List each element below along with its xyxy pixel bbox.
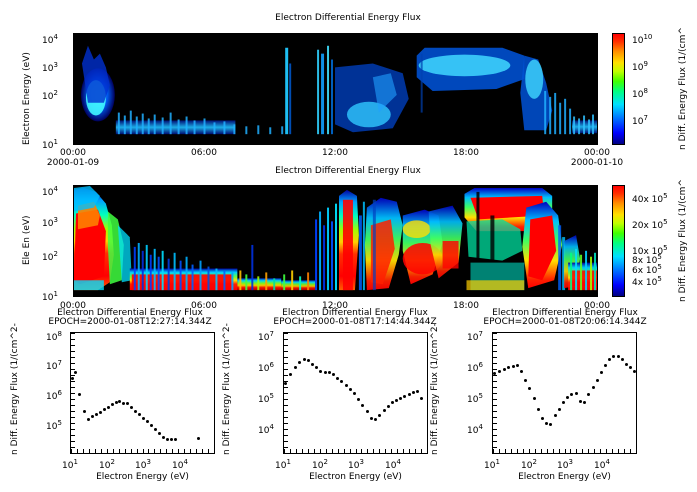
axis-tick bbox=[71, 375, 75, 376]
axis-tick bbox=[296, 449, 297, 453]
panel1-colorbar-label: n Diff. Energy Flux (1/(cm^ bbox=[678, 27, 688, 150]
axis-tick bbox=[71, 363, 75, 364]
panel1-cbar-tick-0: 1010 bbox=[632, 33, 652, 46]
data-point bbox=[520, 370, 523, 373]
axis-tick bbox=[553, 449, 554, 453]
axis-tick bbox=[618, 449, 619, 453]
axis-tick bbox=[77, 449, 78, 453]
axis-tick bbox=[326, 449, 327, 453]
panel2-colorbar bbox=[612, 185, 625, 297]
data-point bbox=[99, 411, 102, 414]
axis-tick bbox=[284, 405, 288, 406]
spectrum-1-xtick-2: 103 bbox=[135, 458, 151, 471]
axis-tick bbox=[493, 435, 497, 436]
axis-tick bbox=[284, 453, 288, 454]
axis-tick bbox=[71, 357, 75, 358]
axis-tick bbox=[535, 449, 536, 453]
data-point bbox=[115, 401, 118, 404]
data-point bbox=[633, 370, 636, 373]
axis-tick bbox=[361, 449, 362, 453]
spectrum-3-xtick-2: 103 bbox=[557, 458, 573, 471]
axis-tick bbox=[493, 423, 497, 424]
spectrum-2-ytick-3: 104 bbox=[258, 423, 274, 436]
panel2-ylabel: Ele En (eV) bbox=[22, 215, 32, 265]
axis-tick bbox=[284, 423, 288, 424]
panel1-title: Electron Differential Energy Flux bbox=[198, 13, 498, 23]
spectrum-2-ytick-2: 105 bbox=[258, 392, 274, 405]
axis-tick bbox=[160, 449, 161, 453]
panel1-ytick-0: 104 bbox=[42, 33, 58, 46]
axis-tick bbox=[154, 449, 155, 453]
data-point bbox=[74, 371, 77, 374]
axis-tick bbox=[427, 449, 428, 453]
axis-tick bbox=[71, 345, 75, 346]
axis-tick bbox=[493, 351, 497, 352]
data-point bbox=[319, 370, 322, 373]
panel1-xtick-0: 00:00 bbox=[60, 148, 86, 158]
axis-tick bbox=[493, 405, 497, 406]
spectrum-3-xtick-3: 104 bbox=[594, 458, 610, 471]
axis-tick bbox=[391, 449, 392, 453]
axis-tick bbox=[594, 449, 595, 453]
axis-tick bbox=[529, 449, 530, 453]
data-point bbox=[284, 382, 287, 385]
data-point bbox=[420, 397, 423, 400]
data-point bbox=[608, 358, 611, 361]
data-point bbox=[612, 355, 615, 358]
spectrum-2-plot-area bbox=[283, 332, 428, 454]
data-point bbox=[403, 395, 406, 398]
axis-tick bbox=[284, 393, 288, 394]
data-point bbox=[311, 363, 314, 366]
data-point bbox=[146, 420, 149, 423]
axis-tick bbox=[184, 449, 185, 453]
axis-tick bbox=[493, 339, 497, 340]
spectrum-2-xlabel: Electron Energy (eV) bbox=[273, 472, 438, 482]
axis-tick bbox=[493, 381, 497, 382]
panel1-cbar-tick-2: 108 bbox=[632, 87, 648, 100]
data-point bbox=[583, 401, 586, 404]
axis-tick bbox=[71, 405, 75, 406]
axis-tick bbox=[284, 381, 288, 382]
axis-tick bbox=[95, 449, 96, 453]
axis-tick bbox=[71, 369, 75, 370]
data-point bbox=[154, 428, 157, 431]
axis-tick bbox=[565, 449, 566, 453]
axis-tick bbox=[606, 449, 607, 453]
axis-tick bbox=[284, 435, 288, 436]
data-point bbox=[412, 391, 415, 394]
data-point bbox=[303, 358, 306, 361]
data-point bbox=[111, 403, 114, 406]
panel1-xtick-3: 18:00 bbox=[453, 148, 479, 158]
axis-tick bbox=[356, 449, 357, 453]
axis-tick bbox=[397, 449, 398, 453]
axis-tick bbox=[582, 449, 583, 453]
data-point bbox=[562, 401, 565, 404]
data-point bbox=[507, 366, 510, 369]
data-point bbox=[315, 366, 318, 369]
data-point bbox=[617, 355, 620, 358]
data-point bbox=[516, 364, 519, 367]
spectrum-2-xtick-0: 101 bbox=[275, 458, 291, 471]
axis-tick bbox=[284, 447, 288, 448]
data-point bbox=[416, 390, 419, 393]
axis-tick bbox=[71, 441, 75, 442]
data-point bbox=[383, 409, 386, 412]
data-point bbox=[78, 393, 81, 396]
panel2-colorbar-label: n Diff. Energy Flux (1/(cm^ bbox=[678, 179, 688, 302]
axis-tick bbox=[284, 375, 288, 376]
data-point bbox=[340, 380, 343, 383]
axis-tick bbox=[143, 449, 144, 453]
axis-tick bbox=[172, 449, 173, 453]
axis-tick bbox=[71, 435, 75, 436]
data-point bbox=[391, 401, 394, 404]
axis-tick bbox=[284, 369, 288, 370]
data-point bbox=[512, 365, 515, 368]
data-point bbox=[122, 402, 125, 405]
axis-tick bbox=[71, 351, 75, 352]
data-point bbox=[95, 413, 98, 416]
axis-tick bbox=[320, 449, 321, 453]
axis-tick bbox=[284, 333, 288, 334]
data-point bbox=[174, 438, 177, 441]
axis-tick bbox=[332, 449, 333, 453]
data-point bbox=[604, 364, 607, 367]
panel1-colorbar bbox=[612, 33, 625, 145]
data-point bbox=[324, 371, 327, 374]
axis-tick bbox=[493, 363, 497, 364]
spectrum-2-ylabel: n Diff. Energy Flux (1/(cm^2- bbox=[222, 323, 232, 455]
data-point bbox=[387, 405, 390, 408]
spectrum-3-ytick-2: 105 bbox=[467, 392, 483, 405]
axis-tick bbox=[493, 375, 497, 376]
axis-tick bbox=[284, 417, 288, 418]
panel1-cbar-tick-3: 107 bbox=[632, 114, 648, 127]
axis-tick bbox=[83, 449, 84, 453]
panel2-cbar-tick-5: 4x 105 bbox=[632, 275, 662, 288]
axis-tick bbox=[547, 449, 548, 453]
axis-tick bbox=[367, 449, 368, 453]
spectrum-2-xtick-3: 104 bbox=[385, 458, 401, 471]
data-point bbox=[138, 413, 141, 416]
spectrum-3-xtick-0: 101 bbox=[484, 458, 500, 471]
data-point bbox=[307, 359, 310, 362]
data-point bbox=[158, 432, 161, 435]
panel1-xdate-right: 2000-01-10 bbox=[571, 158, 623, 168]
axis-tick bbox=[71, 411, 75, 412]
data-point bbox=[126, 402, 129, 405]
axis-tick bbox=[290, 449, 291, 453]
data-point bbox=[545, 422, 548, 425]
data-point bbox=[370, 417, 373, 420]
axis-tick bbox=[415, 449, 416, 453]
axis-tick bbox=[523, 449, 524, 453]
axis-tick bbox=[284, 339, 288, 340]
axis-tick bbox=[284, 345, 288, 346]
axis-tick bbox=[493, 393, 497, 394]
data-point bbox=[353, 392, 356, 395]
axis-tick bbox=[379, 449, 380, 453]
axis-tick bbox=[493, 399, 497, 400]
data-point bbox=[166, 438, 169, 441]
axis-tick bbox=[493, 357, 497, 358]
axis-tick bbox=[493, 411, 497, 412]
panel1-ylabel: Electron Energy (eV) bbox=[22, 52, 32, 145]
data-point bbox=[197, 437, 200, 440]
axis-tick bbox=[284, 411, 288, 412]
axis-tick bbox=[178, 449, 179, 453]
data-point bbox=[395, 399, 398, 402]
axis-tick bbox=[600, 449, 601, 453]
data-point bbox=[83, 410, 86, 413]
data-point bbox=[349, 388, 352, 391]
axis-tick bbox=[137, 449, 138, 453]
axis-tick bbox=[284, 387, 288, 388]
data-point bbox=[399, 397, 402, 400]
panel2-title: Electron Differential Energy Flux bbox=[198, 166, 498, 176]
spectrum-1-ylabel: n Diff. Energy Flux (1/(cm^2- bbox=[10, 323, 20, 455]
axis-tick bbox=[338, 449, 339, 453]
data-point bbox=[361, 404, 364, 407]
axis-tick bbox=[71, 333, 75, 334]
data-point bbox=[345, 384, 348, 387]
axis-tick bbox=[284, 357, 288, 358]
spectrum-2-ytick-0: 107 bbox=[258, 330, 274, 343]
axis-tick bbox=[541, 449, 542, 453]
axis-tick bbox=[350, 449, 351, 453]
data-point bbox=[621, 358, 624, 361]
data-point bbox=[575, 392, 578, 395]
data-point bbox=[107, 406, 110, 409]
panel2-ytick-1: 103 bbox=[42, 216, 58, 229]
data-point bbox=[357, 398, 360, 401]
axis-tick bbox=[493, 345, 497, 346]
data-point bbox=[629, 366, 632, 369]
data-point bbox=[170, 438, 173, 441]
spectrum-1-subtitle: EPOCH=2000-01-08T12:27:14.344Z bbox=[20, 317, 240, 327]
data-point bbox=[142, 417, 145, 420]
axis-tick bbox=[71, 381, 75, 382]
axis-tick bbox=[493, 453, 497, 454]
axis-tick bbox=[505, 449, 506, 453]
data-point bbox=[162, 436, 165, 439]
data-point bbox=[118, 400, 121, 403]
data-point bbox=[587, 393, 590, 396]
data-point bbox=[600, 371, 603, 374]
data-point bbox=[87, 418, 90, 421]
data-point bbox=[103, 408, 106, 411]
data-point bbox=[541, 417, 544, 420]
axis-tick bbox=[493, 369, 497, 370]
spectrum-3-xtick-1: 102 bbox=[521, 458, 537, 471]
axis-tick bbox=[89, 449, 90, 453]
axis-tick bbox=[71, 447, 75, 448]
axis-tick bbox=[71, 399, 75, 400]
data-point bbox=[366, 410, 369, 413]
data-point bbox=[150, 424, 153, 427]
axis-tick bbox=[636, 449, 637, 453]
data-point bbox=[558, 408, 561, 411]
axis-tick bbox=[493, 417, 497, 418]
axis-tick bbox=[308, 449, 309, 453]
spectrum-1-ytick-3: 105 bbox=[46, 419, 62, 432]
axis-tick bbox=[517, 449, 518, 453]
panel2-ytick-3: 101 bbox=[42, 290, 58, 303]
data-point bbox=[537, 408, 540, 411]
axis-tick bbox=[570, 449, 571, 453]
axis-tick bbox=[202, 449, 203, 453]
axis-tick bbox=[624, 449, 625, 453]
axis-tick bbox=[284, 351, 288, 352]
spectrum-1-ytick-0: 108 bbox=[46, 330, 62, 343]
axis-tick bbox=[166, 449, 167, 453]
axis-tick bbox=[190, 449, 191, 453]
data-point bbox=[378, 414, 381, 417]
data-point bbox=[130, 406, 133, 409]
spectrum-2-xtick-1: 102 bbox=[312, 458, 328, 471]
spectrum-1-xtick-0: 101 bbox=[62, 458, 78, 471]
data-point bbox=[549, 423, 552, 426]
axis-tick bbox=[196, 449, 197, 453]
data-point bbox=[498, 370, 501, 373]
axis-tick bbox=[107, 449, 108, 453]
data-point bbox=[533, 397, 536, 400]
panel2-plot-area bbox=[73, 185, 598, 297]
data-point bbox=[570, 393, 573, 396]
spectrum-1-xtick-3: 104 bbox=[172, 458, 188, 471]
axis-tick bbox=[71, 423, 75, 424]
data-point bbox=[298, 361, 301, 364]
axis-tick bbox=[493, 333, 497, 334]
spectrum-3-subtitle: EPOCH=2000-01-08T20:06:14.344Z bbox=[450, 317, 680, 327]
axis-tick bbox=[284, 363, 288, 364]
panel2-ytick-0: 104 bbox=[42, 185, 58, 198]
data-point bbox=[408, 393, 411, 396]
panel1-xtick-1: 06:00 bbox=[191, 148, 217, 158]
data-point bbox=[625, 363, 628, 366]
axis-tick bbox=[214, 449, 215, 453]
axis-tick bbox=[576, 449, 577, 453]
axis-tick bbox=[344, 449, 345, 453]
axis-tick bbox=[612, 449, 613, 453]
axis-tick bbox=[113, 449, 114, 453]
axis-tick bbox=[284, 441, 288, 442]
axis-tick bbox=[421, 449, 422, 453]
axis-tick bbox=[559, 449, 560, 453]
panel1-ytick-3: 101 bbox=[42, 138, 58, 151]
panel1-xdate-left: 2000-01-09 bbox=[47, 158, 99, 168]
spectrum-3-xlabel: Electron Energy (eV) bbox=[482, 472, 647, 482]
panel1-plot-area bbox=[73, 33, 598, 145]
data-point bbox=[579, 400, 582, 403]
data-point bbox=[294, 366, 297, 369]
axis-tick bbox=[499, 449, 500, 453]
data-point bbox=[554, 414, 557, 417]
panel1-ytick-2: 102 bbox=[42, 89, 58, 102]
spectrum-3-ytick-1: 106 bbox=[467, 361, 483, 374]
spectrum-1-xtick-1: 102 bbox=[99, 458, 115, 471]
spectrum-3-ylabel: n Diff. Energy Flux (1/(cm^2- bbox=[430, 323, 440, 455]
axis-tick bbox=[284, 429, 288, 430]
spectrum-3-plot-area bbox=[492, 332, 637, 454]
spectrum-1-plot-area bbox=[70, 332, 215, 454]
panel2-spectrogram-image bbox=[74, 186, 597, 296]
data-point bbox=[524, 379, 527, 382]
axis-tick bbox=[71, 393, 75, 394]
panel1-ytick-1: 103 bbox=[42, 61, 58, 74]
axis-tick bbox=[71, 429, 75, 430]
axis-tick bbox=[131, 449, 132, 453]
data-point bbox=[596, 379, 599, 382]
axis-tick bbox=[71, 453, 75, 454]
axis-tick bbox=[314, 449, 315, 453]
axis-tick bbox=[71, 417, 75, 418]
data-point bbox=[134, 410, 137, 413]
axis-tick bbox=[119, 449, 120, 453]
spectrum-1-xlabel: Electron Energy (eV) bbox=[60, 472, 225, 482]
axis-tick bbox=[284, 399, 288, 400]
spectrum-2-ytick-1: 106 bbox=[258, 361, 274, 374]
axis-tick bbox=[493, 429, 497, 430]
panel2-cbar-tick-1: 20x 105 bbox=[632, 218, 668, 231]
data-point bbox=[374, 418, 377, 421]
data-point bbox=[328, 371, 331, 374]
axis-tick bbox=[148, 449, 149, 453]
spectrum-3-ytick-0: 107 bbox=[467, 330, 483, 343]
data-point bbox=[528, 387, 531, 390]
axis-tick bbox=[385, 449, 386, 453]
panel1-xtick-4: 00:00 bbox=[584, 148, 610, 158]
axis-tick bbox=[125, 449, 126, 453]
axis-tick bbox=[403, 449, 404, 453]
spectrum-1-ytick-1: 107 bbox=[46, 359, 62, 372]
data-point bbox=[566, 396, 569, 399]
data-point bbox=[592, 386, 595, 389]
axis-tick bbox=[588, 449, 589, 453]
panel1-xtick-2: 12:00 bbox=[322, 148, 348, 158]
spectrum-2-xtick-2: 103 bbox=[348, 458, 364, 471]
spectrum-1-ytick-2: 106 bbox=[46, 389, 62, 402]
axis-tick bbox=[101, 449, 102, 453]
data-point bbox=[503, 368, 506, 371]
data-point bbox=[336, 377, 339, 380]
axis-tick bbox=[373, 449, 374, 453]
axis-tick bbox=[493, 447, 497, 448]
axis-tick bbox=[630, 449, 631, 453]
data-point bbox=[332, 373, 335, 376]
panel1-cbar-tick-1: 109 bbox=[632, 60, 648, 73]
spectrum-3-ytick-3: 104 bbox=[467, 423, 483, 436]
axis-tick bbox=[71, 387, 75, 388]
axis-tick bbox=[71, 339, 75, 340]
panel2-ytick-2: 102 bbox=[42, 250, 58, 263]
axis-tick bbox=[493, 441, 497, 442]
axis-tick bbox=[208, 449, 209, 453]
axis-tick bbox=[302, 449, 303, 453]
data-point bbox=[289, 373, 292, 376]
panel2-cbar-tick-0: 40x 105 bbox=[632, 192, 668, 205]
data-point bbox=[71, 377, 74, 380]
axis-tick bbox=[511, 449, 512, 453]
data-point bbox=[91, 415, 94, 418]
panel1-spectrogram-image bbox=[74, 34, 597, 144]
axis-tick bbox=[493, 387, 497, 388]
axis-tick bbox=[409, 449, 410, 453]
